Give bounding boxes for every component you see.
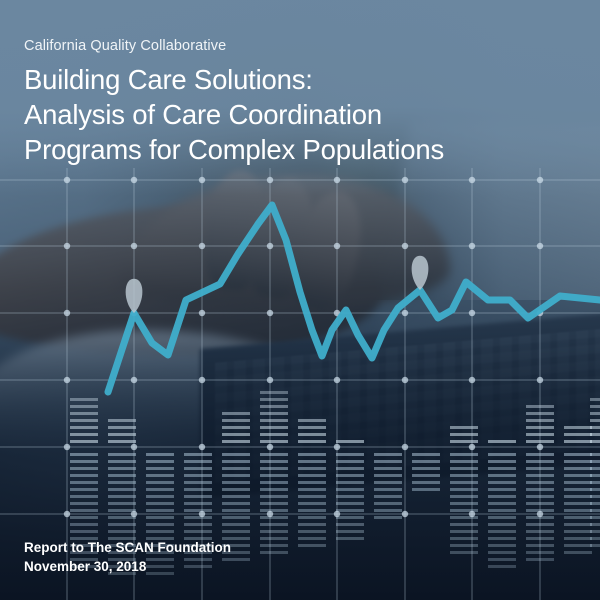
grid-node-dots: [64, 177, 543, 517]
page-title: Building Care Solutions: Analysis of Car…: [24, 62, 444, 167]
report-cover: California Quality Collaborative Buildin…: [0, 0, 600, 600]
map-pin-group: [126, 256, 429, 313]
data-grid-overlay: [0, 168, 600, 600]
trend-line: [108, 205, 600, 392]
report-footer: Report to The SCAN Foundation November 3…: [24, 538, 231, 576]
organization-name: California Quality Collaborative: [24, 38, 226, 54]
